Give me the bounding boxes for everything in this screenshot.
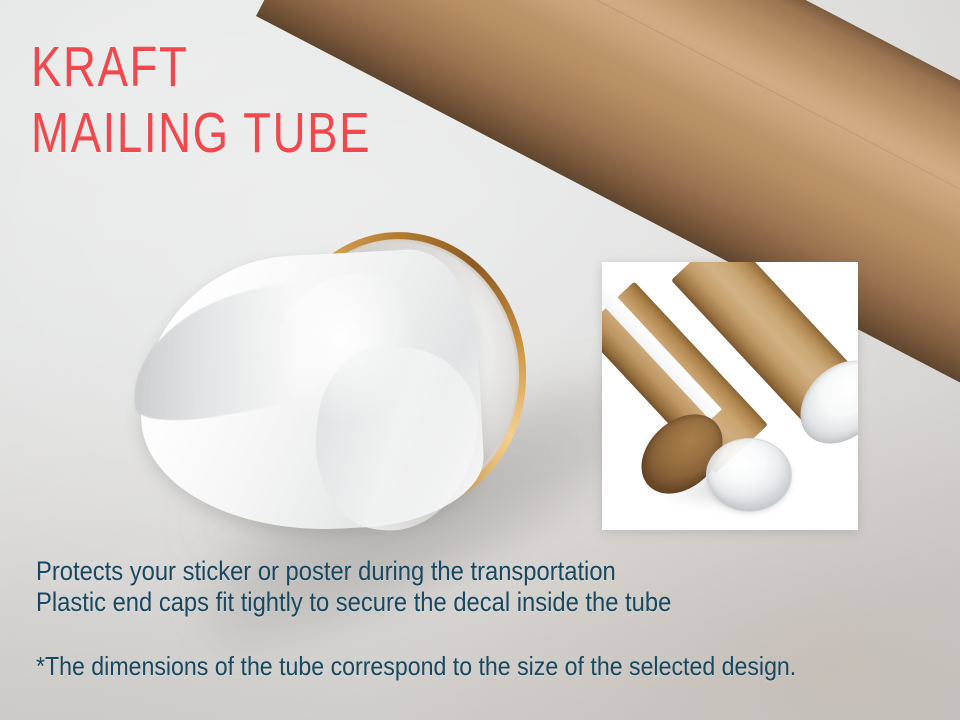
- feature-line-2: Plastic end caps fit tightly to secure t…: [36, 587, 671, 617]
- headline-line-1: KRAFT: [31, 35, 188, 99]
- product-photo-image: [602, 262, 858, 530]
- page-title: KRAFTMAILING TUBE: [31, 34, 371, 166]
- inset-plastic-cap: [706, 438, 792, 512]
- product-photo-inset: [602, 262, 858, 530]
- white-poster-sheet: [120, 255, 540, 535]
- feature-description: Protects your sticker or poster during t…: [36, 556, 671, 618]
- poster-canvas: KRAFTMAILING TUBE Protects your sticker …: [0, 0, 960, 720]
- footnote: *The dimensions of the tube correspond t…: [36, 651, 796, 681]
- poster-highlight: [270, 273, 450, 473]
- feature-line-1: Protects your sticker or poster during t…: [36, 556, 616, 586]
- headline-line-2: MAILING TUBE: [31, 101, 371, 165]
